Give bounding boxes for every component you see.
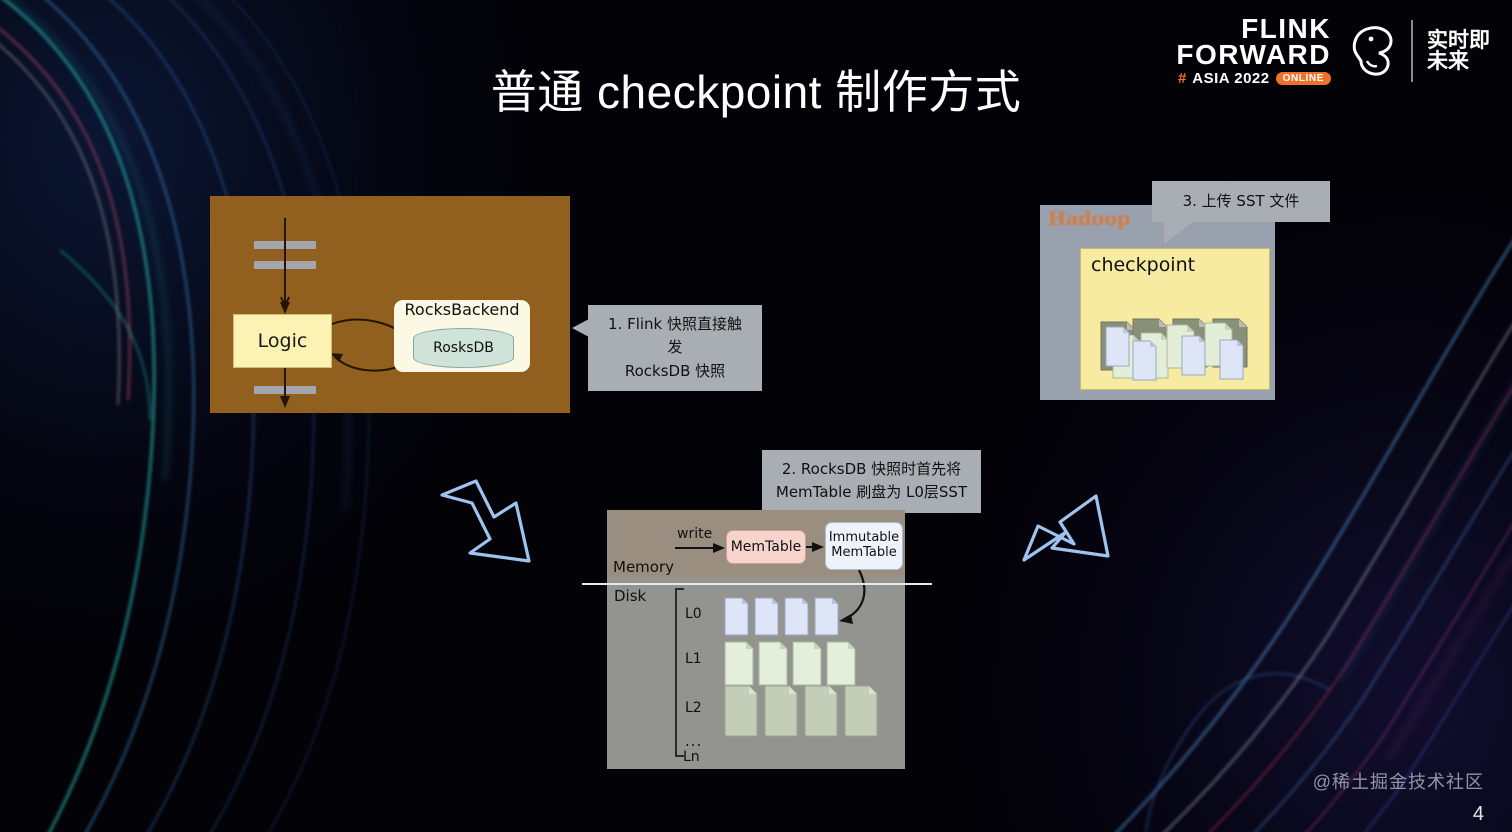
logo-event: ASIA 2022 <box>1192 72 1269 86</box>
hdfs-logo: Hadoop <box>1048 208 1130 230</box>
checkpoint-file-stack <box>1081 249 1269 389</box>
checkpoint-box: checkpoint <box>1080 248 1270 390</box>
rocks-backend-label: RocksBackend <box>394 300 530 319</box>
logo-chinese: 实时即 未来 <box>1427 30 1490 73</box>
rocksdb-lsm-panel: Memory Disk write MemTable Immutable Mem… <box>607 510 905 769</box>
files-l0 <box>725 598 838 635</box>
callout-3-tail <box>1164 221 1194 244</box>
event-logo: FLINK FORWARD # ASIA 2022 ONLINE 实时即 未来 <box>1176 10 1490 92</box>
callout-2-line2: MemTable 刷盘为 L0层SST <box>775 481 968 504</box>
remote-storage-panel: Hadoop checkpoint <box>1040 205 1275 400</box>
logic-box: Logic <box>233 314 332 368</box>
online-badge: ONLINE <box>1276 72 1331 85</box>
rocksdb-cylinder: RosksDB <box>413 328 514 368</box>
slide-canvas: 普通 checkpoint 制作方式 FLINK FORWARD # ASIA … <box>0 0 1512 832</box>
callout-3-line1: 3. 上传 SST 文件 <box>1162 190 1320 213</box>
logo-line2: FORWARD <box>1176 42 1331 68</box>
level-label-l2: L2 <box>685 700 702 716</box>
callout-2: 2. RocksDB 快照时首先将 MemTable 刷盘为 L0层SST <box>762 450 981 513</box>
memory-disk-divider <box>582 583 932 585</box>
level-ellipsis: ... <box>685 732 702 750</box>
flink-squirrel-icon <box>1341 21 1397 81</box>
callout-1-line2: RocksDB 快照 <box>601 360 749 383</box>
logo-divider <box>1411 20 1413 82</box>
hash-icon: # <box>1178 72 1186 86</box>
level-label-ln: Ln <box>683 749 700 765</box>
callout-1-line1: 1. Flink 快照直接触发 <box>601 313 749 360</box>
page-number: 4 <box>1473 803 1484 826</box>
flink-operator-panel: RocksBackend RosksDB Logic <box>210 196 570 413</box>
level-label-l1: L1 <box>685 651 702 667</box>
logo-cn-line2: 未来 <box>1427 51 1490 72</box>
files-l2 <box>725 686 877 736</box>
callout-3: 3. 上传 SST 文件 <box>1152 181 1330 222</box>
watermark: @稀土掘金技术社区 <box>1313 768 1484 794</box>
files-l1 <box>725 642 855 685</box>
callout-1-tail <box>572 319 589 337</box>
logo-event-line: # ASIA 2022 ONLINE <box>1178 72 1331 86</box>
lsm-file-icons <box>607 510 905 769</box>
flink-forward-wordmark: FLINK FORWARD # ASIA 2022 ONLINE <box>1176 16 1331 85</box>
callout-1: 1. Flink 快照直接触发 RocksDB 快照 <box>588 305 762 391</box>
logo-cn-line1: 实时即 <box>1427 30 1490 51</box>
hand-drawn-arrow-up-right <box>1012 482 1122 574</box>
hand-drawn-arrow-down-right <box>432 473 552 568</box>
callout-2-line1: 2. RocksDB 快照时首先将 <box>775 458 968 481</box>
